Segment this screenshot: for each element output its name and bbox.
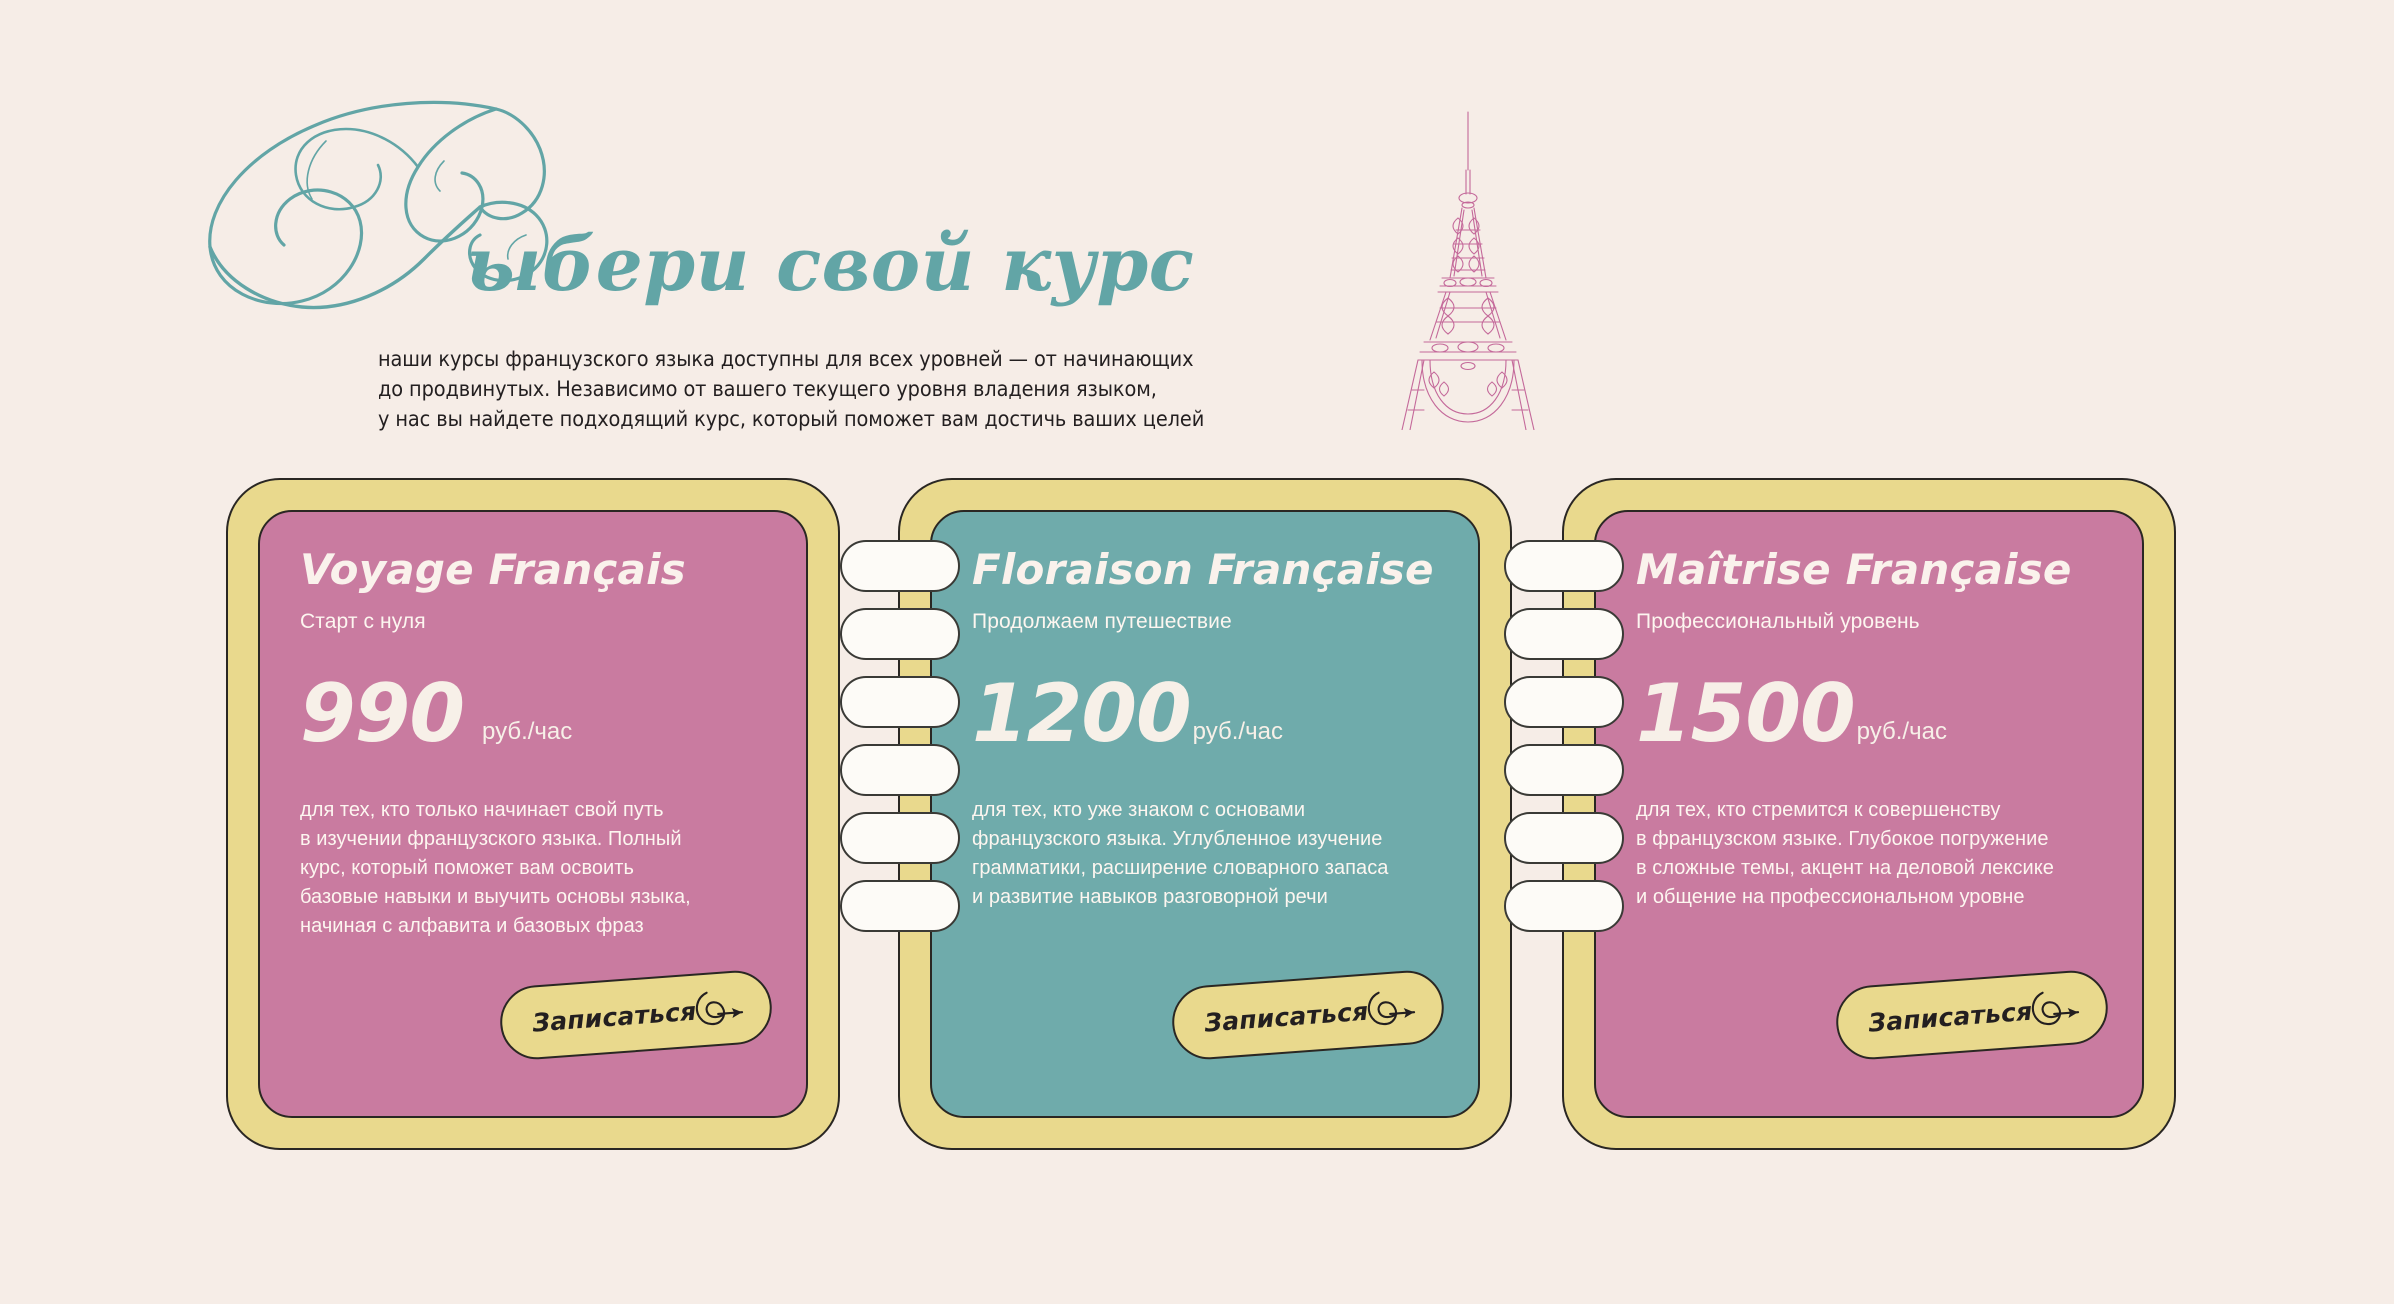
page-title: ыбери свой курс bbox=[466, 222, 1194, 308]
course-name: Maîtrise Française bbox=[1636, 548, 2102, 592]
eiffel-tower-icon bbox=[1378, 110, 1558, 430]
price-row: 1500 руб./час bbox=[1636, 676, 2102, 752]
price-unit: руб./час bbox=[482, 718, 572, 746]
price-value: 1500 bbox=[1636, 676, 1855, 752]
desc-line: и развитие навыков разговорной речи bbox=[972, 883, 1438, 912]
desc-line: курс, который поможет вам освоить bbox=[300, 854, 766, 883]
desc-line: в изучении французского языка. Полный bbox=[300, 825, 766, 854]
desc-line: для тех, кто уже знаком с основами bbox=[972, 796, 1438, 825]
price-value: 990 bbox=[300, 676, 464, 752]
desc-line: для тех, кто стремится к совершенству bbox=[1636, 796, 2102, 825]
curly-arrow-icon bbox=[1362, 982, 1422, 1036]
desc-line: в французском языке. Глубокое погружение bbox=[1636, 825, 2102, 854]
curly-arrow-icon bbox=[2026, 982, 2086, 1036]
course-subtitle: Продолжаем путешествие bbox=[972, 610, 1438, 634]
enroll-button-label: Записаться bbox=[1203, 996, 1369, 1037]
course-subtitle: Старт с нуля bbox=[300, 610, 766, 634]
price-row: 990 руб./час bbox=[300, 676, 766, 752]
desc-line: начиная с алфавита и базовых фраз bbox=[300, 912, 766, 941]
course-card-1[interactable]: Voyage Français Старт с нуля 990 руб./ча… bbox=[226, 478, 840, 1150]
intro-line-2: до продвинутых. Независимо от вашего тек… bbox=[378, 375, 1378, 405]
course-description: для тех, кто уже знаком с основами франц… bbox=[972, 796, 1438, 912]
price-unit: руб./час bbox=[1857, 718, 1947, 746]
price-row: 1200 руб./час bbox=[972, 676, 1438, 752]
course-card-2[interactable]: Floraison Française Продолжаем путешеств… bbox=[898, 478, 1512, 1150]
price-value: 1200 bbox=[972, 676, 1191, 752]
desc-line: в сложные темы, акцент на деловой лексик… bbox=[1636, 854, 2102, 883]
page-header: ыбери свой курс наши курсы французского … bbox=[0, 0, 2394, 470]
intro-line-3: у нас вы найдете подходящий курс, которы… bbox=[378, 405, 1378, 435]
course-name: Floraison Française bbox=[972, 548, 1438, 592]
curly-arrow-icon bbox=[690, 982, 750, 1036]
course-card-3[interactable]: Maîtrise Française Профессиональный уров… bbox=[1562, 478, 2176, 1150]
enroll-button-label: Записаться bbox=[1867, 996, 2033, 1037]
desc-line: французского языка. Углубленное изучение bbox=[972, 825, 1438, 854]
desc-line: для тех, кто только начинает свой путь bbox=[300, 796, 766, 825]
course-name: Voyage Français bbox=[300, 548, 766, 592]
course-subtitle: Профессиональный уровень bbox=[1636, 610, 2102, 634]
course-description: для тех, кто только начинает свой путь в… bbox=[300, 796, 766, 941]
course-cards: Voyage Français Старт с нуля 990 руб./ча… bbox=[0, 470, 2394, 1160]
desc-line: базовые навыки и выучить основы языка, bbox=[300, 883, 766, 912]
course-description: для тех, кто стремится к совершенству в … bbox=[1636, 796, 2102, 912]
price-unit: руб./час bbox=[1193, 718, 1283, 746]
desc-line: грамматики, расширение словарного запаса bbox=[972, 854, 1438, 883]
intro-line-1: наши курсы французского языка доступны д… bbox=[378, 345, 1378, 375]
enroll-button-label: Записаться bbox=[531, 996, 697, 1037]
intro-paragraph: наши курсы французского языка доступны д… bbox=[378, 345, 1378, 435]
desc-line: и общение на профессиональном уровне bbox=[1636, 883, 2102, 912]
